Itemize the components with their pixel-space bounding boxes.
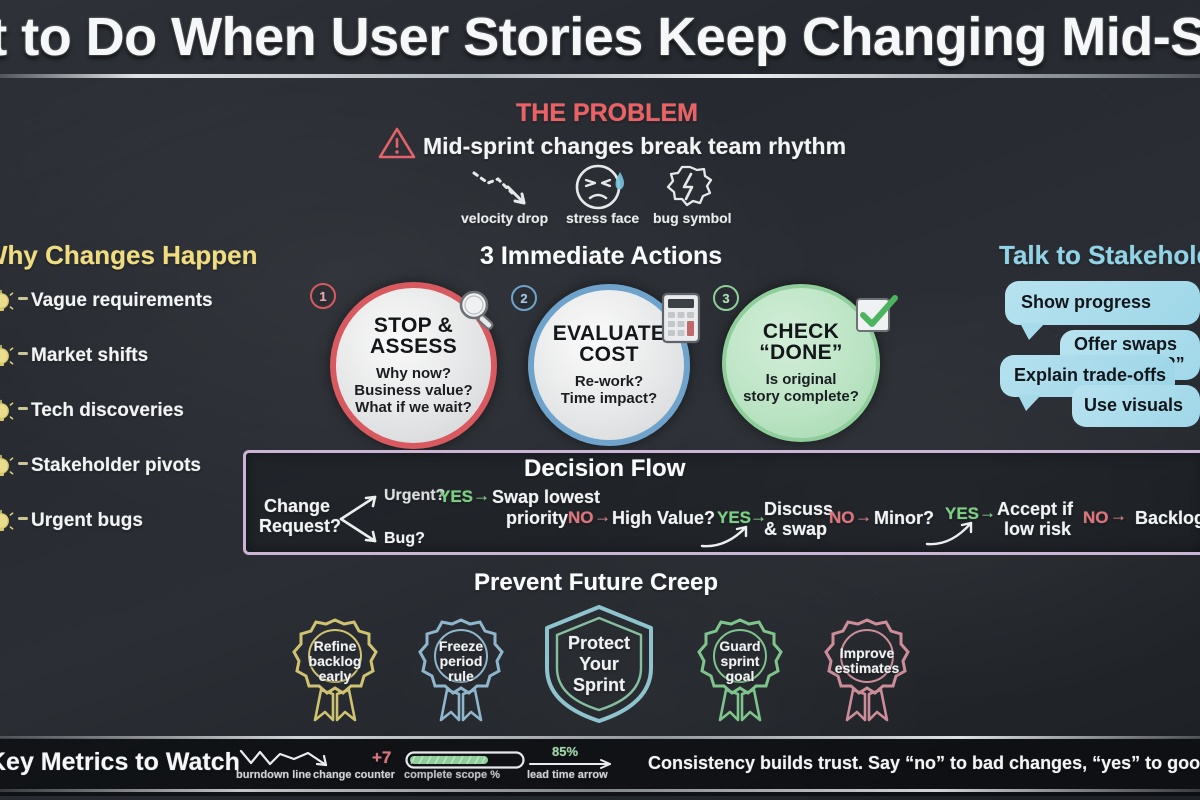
action-2-question-1: Re-work?	[575, 373, 643, 390]
why-dash	[18, 407, 28, 410]
why-dash	[18, 352, 28, 355]
problem-statement: Mid-sprint changes break team rhythm	[423, 133, 846, 160]
bubble-tail-icon	[1020, 323, 1045, 340]
action-1-title-line-1: STOP &	[374, 315, 453, 336]
magnifier-icon	[455, 286, 503, 334]
stress-face-icon	[570, 162, 636, 212]
burndown-line-label: burndown line	[236, 769, 311, 781]
action-3-question-2: story complete?	[743, 388, 859, 405]
prevent-badge-line-1: Freeze	[409, 639, 513, 654]
prevent-badge-line-3: early	[283, 669, 387, 684]
lightbulb-icon	[0, 454, 14, 480]
prevent-badge-line-2: backlog	[283, 654, 387, 669]
flow-step-6-condition: NO	[1083, 508, 1109, 528]
flow-curve-arrow-icon	[700, 521, 758, 551]
flow-step-6-arrow: →	[1110, 506, 1127, 526]
why-item-label: Tech discoveries	[31, 400, 184, 422]
stakeholder-bubble-show-progress[interactable]: Show progress	[1005, 281, 1200, 325]
complete-scope-label: complete scope %	[404, 769, 500, 781]
flow-step-4-condition: NO	[829, 508, 855, 528]
metrics-top-rule	[0, 736, 1200, 739]
action-3-title-line-2: “DONE”	[759, 342, 842, 363]
prevent-badge-protect-sprint[interactable]: Protect Your Sprint	[537, 602, 661, 726]
stakeholder-bubble-text-line-1: Offer swaps	[1074, 335, 1177, 355]
flow-step-3-result-line-2: & swap	[764, 519, 827, 540]
stress-face-label: stress face	[566, 210, 639, 226]
stakeholder-bubble-text: Explain trade-offs	[1014, 366, 1166, 386]
bubble-tail-icon	[1018, 395, 1041, 411]
action-2-number: 2	[511, 285, 537, 311]
prevent-badge-line-1: Improve	[815, 646, 919, 661]
stakeholder-bubble-text: Use visuals	[1084, 396, 1183, 416]
action-1-title-line-2: ASSESS	[370, 336, 457, 357]
prevent-badge-refine-backlog[interactable]: Refine backlog early	[283, 612, 387, 724]
problem-heading: THE PROBLEM	[516, 99, 698, 128]
header: What to Do When User Stories Keep Changi…	[0, 0, 1200, 82]
flow-curve-arrow-icon	[925, 519, 983, 549]
action-2-title-line-1: EVALUATE	[553, 323, 665, 344]
prevent-badge-line-1: Guard	[688, 639, 792, 654]
action-3-number: 3	[713, 285, 739, 311]
flow-step-4-arrow: →	[855, 507, 872, 527]
stakeholder-bubble-use-visuals[interactable]: Use visuals	[1072, 385, 1200, 427]
flow-step-5-result-line-2: low risk	[1004, 519, 1071, 540]
action-1-question-1: Why now?	[376, 365, 451, 382]
prevent-heading: Prevent Future Creep	[474, 569, 718, 597]
flow-step-2-condition: NO	[568, 508, 594, 528]
lightbulb-icon	[0, 289, 14, 315]
velocity-drop-label: velocity drop	[461, 210, 548, 226]
prevent-badge-line-1: Protect	[537, 634, 661, 653]
prevent-badge-freeze-period[interactable]: Freeze period rule	[409, 612, 513, 724]
prevent-badge-line-2: period	[409, 654, 513, 669]
action-1-number: 1	[310, 283, 336, 309]
flow-step-1-condition: YES	[439, 487, 473, 507]
flow-branch-arrows-icon	[337, 488, 385, 550]
why-item-label: Stakeholder pivots	[31, 455, 201, 477]
metrics-heading: Key Metrics to Watch	[0, 748, 240, 777]
flow-branch-up-label: Urgent?	[384, 487, 445, 505]
prevent-badge-line-1: Refine	[283, 639, 387, 654]
flow-step-6-result: Backlog	[1135, 508, 1200, 529]
action-3-title-line-1: CHECK	[763, 321, 839, 342]
flow-step-1-result-line-1: Swap lowest	[492, 487, 600, 508]
why-changes-heading: Why Changes Happen	[0, 240, 257, 271]
why-dash	[18, 517, 28, 520]
why-item-label: Market shifts	[31, 345, 148, 367]
flow-start-line-2: Request?	[259, 516, 341, 537]
stakeholders-heading: Talk to Stakeholders	[999, 240, 1200, 271]
flow-step-1-result-line-2: priority	[506, 508, 568, 529]
calculator-icon	[661, 292, 701, 344]
bug-symbol-label: bug symbol	[653, 210, 732, 226]
prevent-badge-guard-sprint-goal[interactable]: Guard sprint goal	[688, 612, 792, 724]
prevent-badge-line-3: rule	[409, 669, 513, 684]
metrics-bottom-rule	[0, 789, 1200, 792]
flow-start-line-1: Change	[264, 496, 330, 517]
chalkboard-infographic: What to Do When User Stories Keep Changi…	[0, 0, 1200, 800]
title-underline	[0, 74, 1200, 78]
prevent-badge-line-2: Your	[537, 655, 661, 674]
lead-time-arrow-label: lead time arrow	[527, 769, 608, 781]
stakeholder-bubble-text: Show progress	[1021, 293, 1151, 313]
why-dash	[18, 297, 28, 300]
progress-bar-icon	[405, 751, 525, 769]
lightbulb-icon	[0, 509, 14, 535]
why-item-label: Urgent bugs	[31, 510, 143, 532]
flow-step-5-result-line-1: Accept if	[997, 499, 1073, 520]
why-item-label: Vague requirements	[31, 290, 213, 312]
velocity-drop-arrow-icon	[468, 165, 548, 213]
lightbulb-icon	[0, 399, 14, 425]
closing-statement: Consistency builds trust. Say “no” to ba…	[648, 753, 1200, 774]
action-2-question-2: Time impact?	[561, 390, 657, 407]
why-dash	[18, 462, 28, 465]
page-title: What to Do When User Stories Keep Changi…	[0, 6, 1200, 68]
flow-step-2-arrow: →	[594, 507, 611, 527]
flow-step-1-arrow: →	[473, 486, 490, 506]
flow-branch-down-label: Bug?	[384, 530, 425, 548]
action-2-title-line-2: COST	[579, 344, 639, 365]
change-counter-value: +7	[372, 748, 391, 768]
action-3-question-1: Is original	[766, 371, 837, 388]
actions-heading: 3 Immediate Actions	[480, 242, 722, 271]
prevent-badge-line-3: Sprint	[537, 676, 661, 695]
warning-triangle-icon	[377, 125, 417, 161]
lightbulb-icon	[0, 344, 14, 370]
prevent-badge-line-2: estimates	[815, 661, 919, 676]
prevent-badge-improve-estimates[interactable]: Improve estimates	[815, 612, 919, 724]
prevent-badge-line-3: goal	[688, 669, 792, 684]
bug-gear-icon	[663, 163, 717, 211]
prevent-badge-line-2: sprint	[688, 654, 792, 669]
action-1-question-3: What if we wait?	[355, 399, 472, 416]
flow-step-3-result-line-1: Discuss	[764, 499, 833, 520]
checkmark-box-icon	[855, 295, 899, 337]
change-counter-label: change counter	[313, 769, 395, 781]
action-1-question-2: Business value?	[354, 382, 472, 399]
decision-flow-heading: Decision Flow	[524, 455, 685, 483]
